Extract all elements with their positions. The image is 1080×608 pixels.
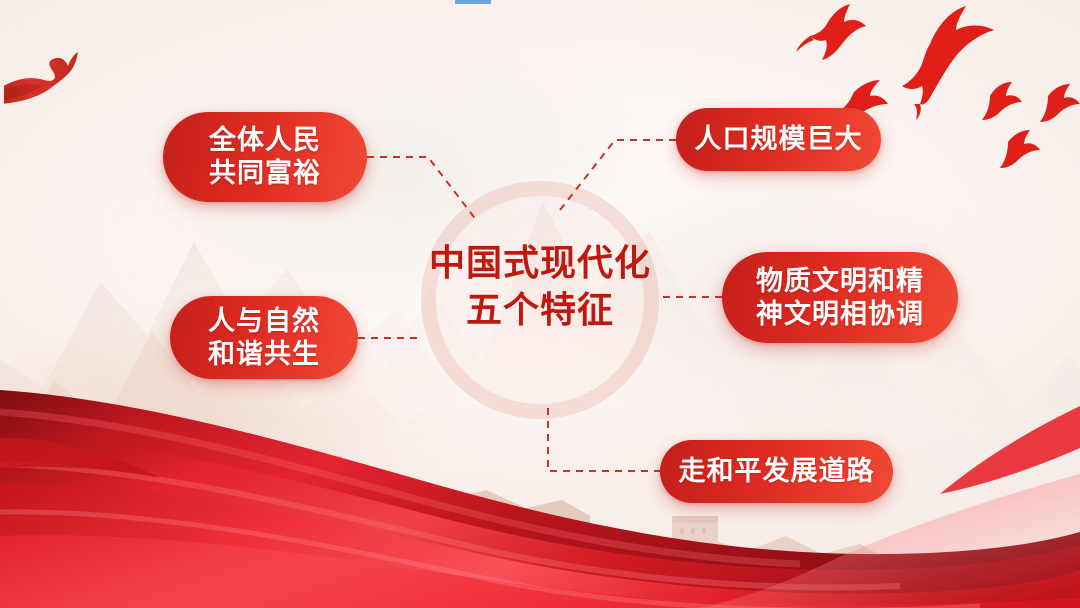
top-progress-bar: [455, 0, 491, 4]
connector-peaceful-dev: [548, 408, 660, 471]
feature-pill-material-spirit[interactable]: 物质文明和精 神文明相协调: [722, 252, 958, 343]
center-title-line1: 中国式现代化: [400, 240, 680, 287]
ribbon-decoration: [4, 34, 134, 114]
feature-pill-common-prosperity[interactable]: 全体人民 共同富裕: [163, 112, 367, 202]
center-title: 中国式现代化 五个特征: [400, 240, 680, 334]
great-wall-illustration: [170, 430, 590, 550]
feature-pill-large-population[interactable]: 人口规模巨大: [676, 108, 881, 171]
feature-pill-peaceful-dev[interactable]: 走和平发展道路: [660, 440, 893, 503]
left-silk-accent: [0, 430, 200, 520]
poster-canvas: 中国式现代化 五个特征 全体人民 共同富裕 人口规模巨大 物质文明和精 神文明相…: [0, 0, 1080, 608]
feature-pill-harmony-nature[interactable]: 人与自然 和谐共生: [170, 296, 358, 379]
center-title-line2: 五个特征: [400, 287, 680, 334]
